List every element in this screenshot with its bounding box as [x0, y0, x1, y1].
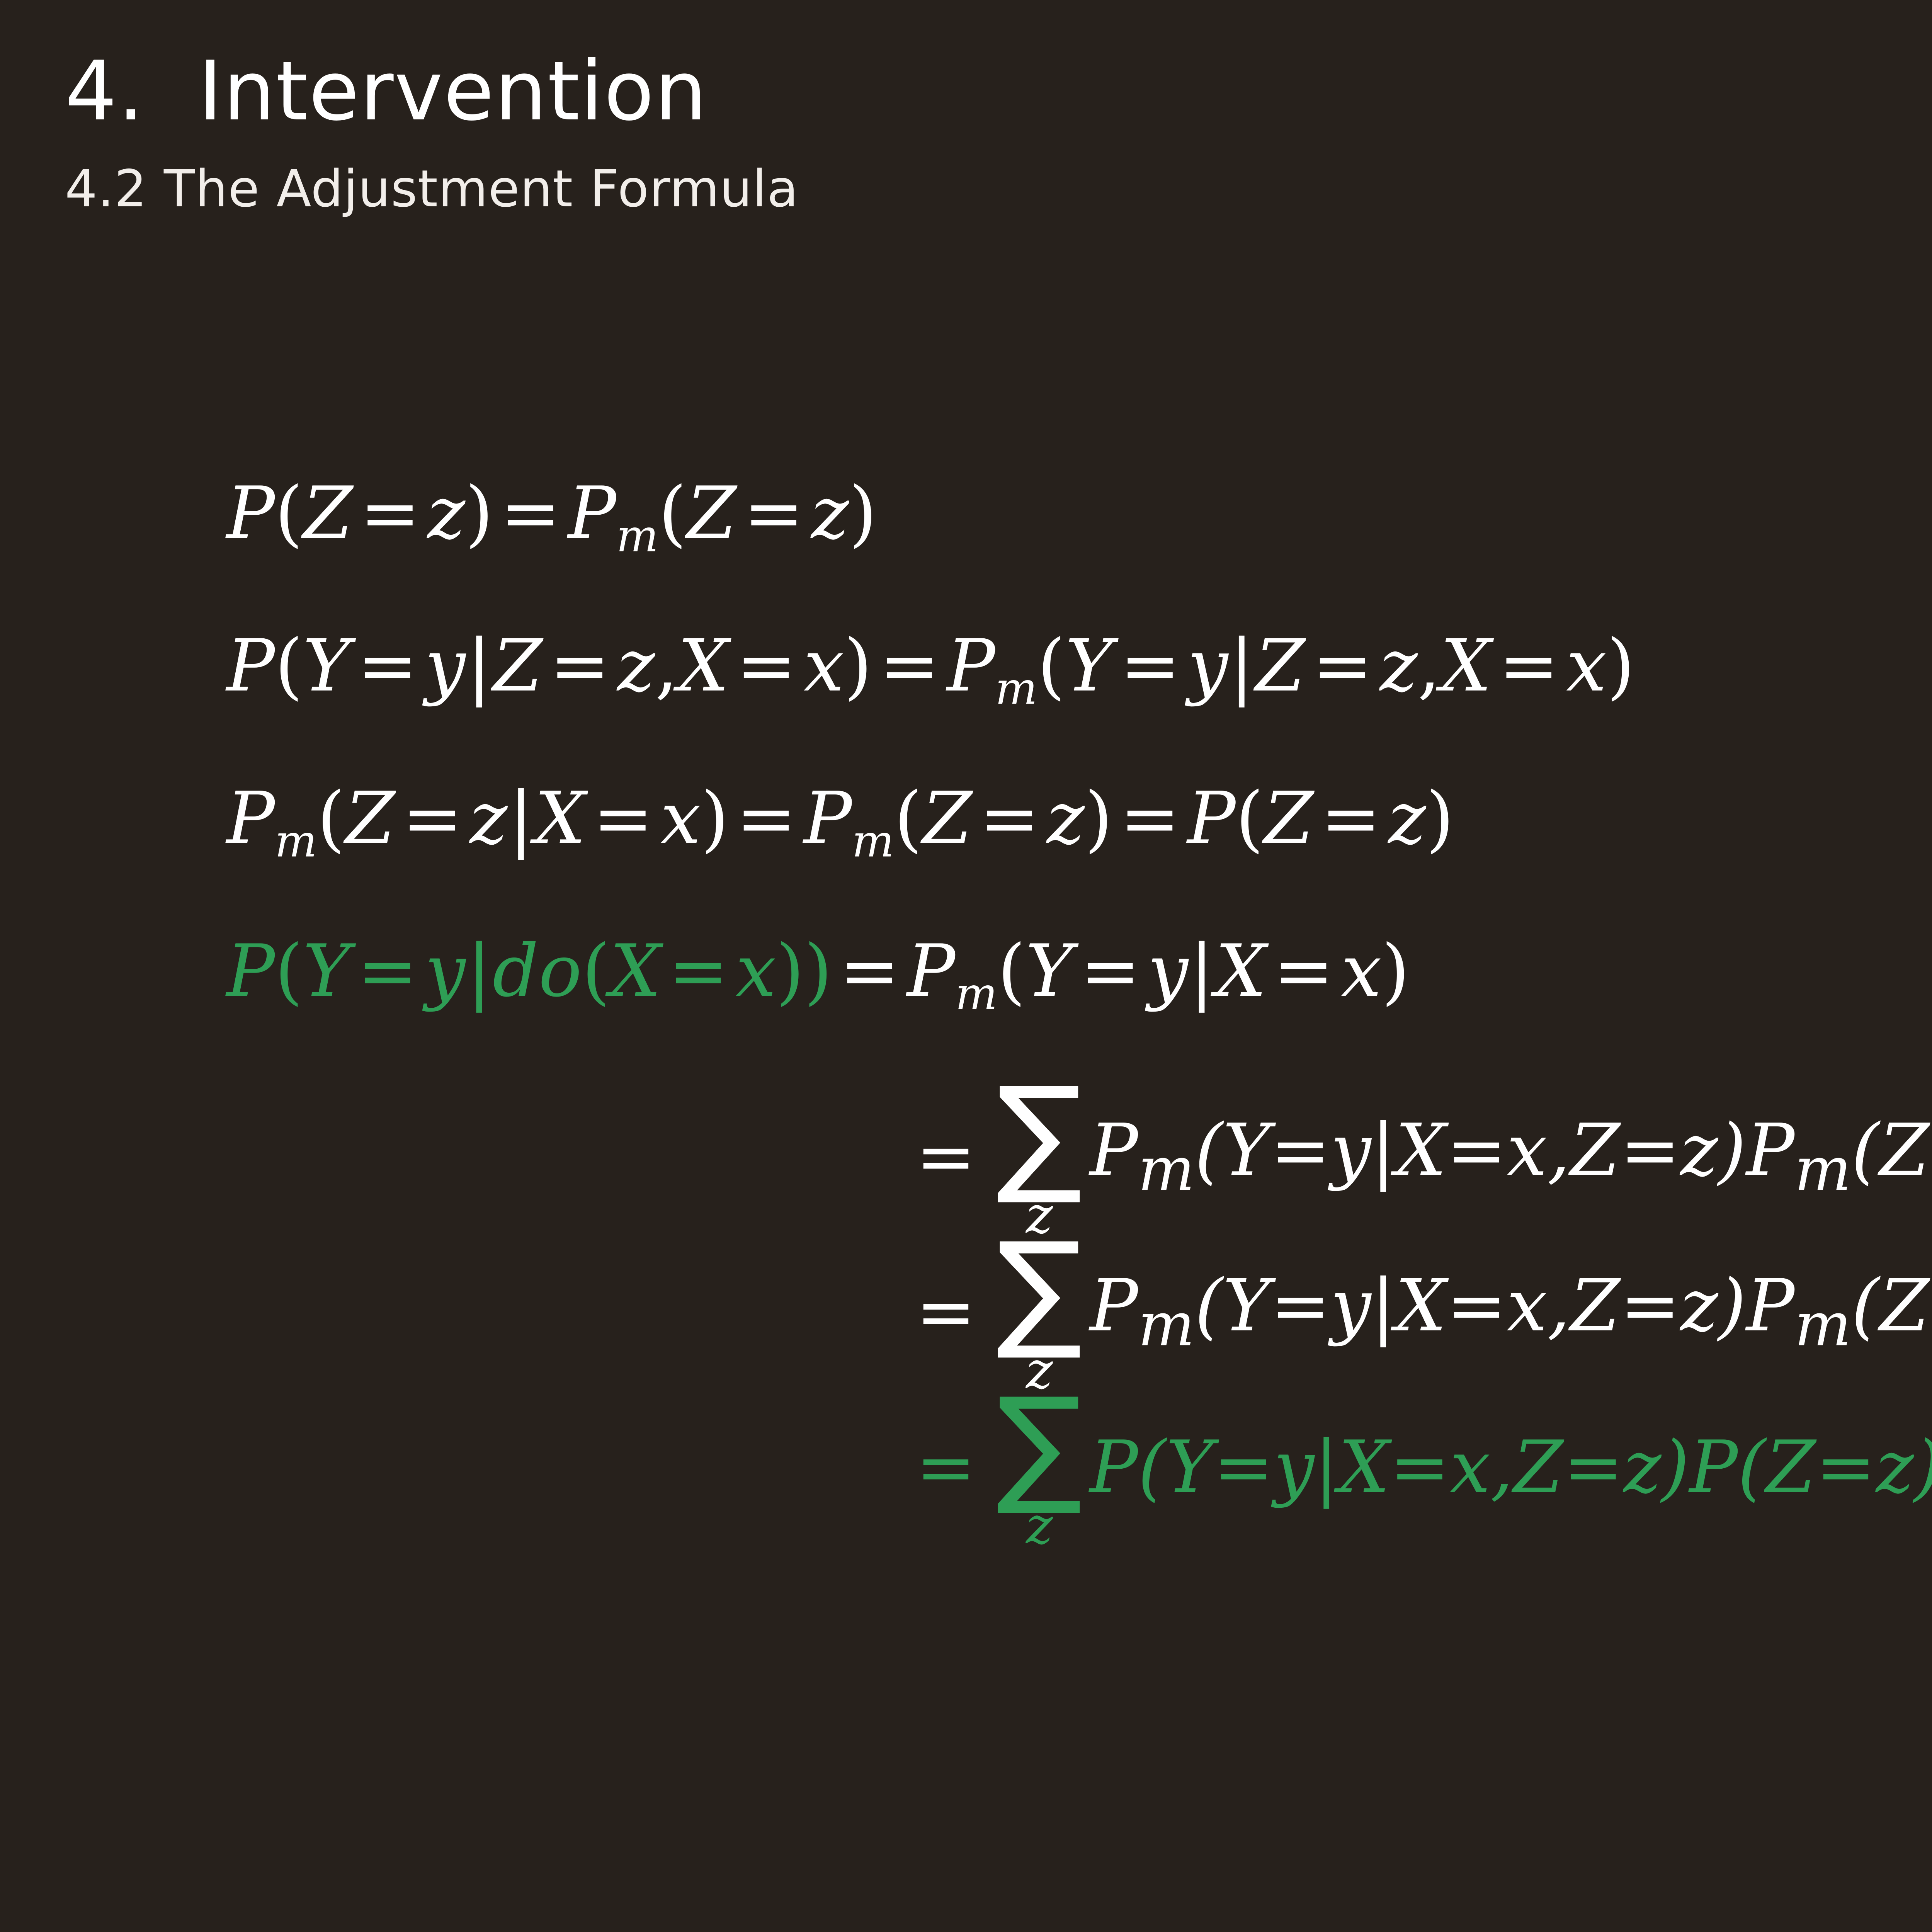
math-token: (: [998, 929, 1026, 1013]
math-token: (: [1738, 1425, 1766, 1509]
summation-symbol: ∑z: [989, 1076, 1090, 1236]
beamer-slide: 4. Intervention 4.2 The Adjustment Formu…: [0, 0, 1932, 1932]
math-token: Y: [1223, 1264, 1270, 1347]
math-token: z: [1876, 1425, 1914, 1509]
math-token: Z: [687, 471, 736, 555]
math-token: (: [1851, 1108, 1879, 1192]
math-token: (: [1037, 624, 1066, 707]
math-token: Z: [922, 776, 972, 860]
page-title: 4. Intervention: [65, 50, 1932, 132]
math-token: P: [1090, 1264, 1138, 1347]
math-token: X: [610, 929, 661, 1013]
math-token: ): [844, 624, 872, 707]
math-token: z: [811, 471, 849, 555]
math-token: m: [1138, 1289, 1195, 1359]
summation-body: P(Y=y|X=x,Z=z)P(Z=z): [1090, 1425, 1932, 1509]
sigma-glyph: ∑: [989, 1386, 1090, 1502]
math-token: P: [1090, 1425, 1138, 1509]
math-token: P: [804, 776, 852, 860]
math-token: (: [275, 929, 303, 1013]
math-token: P: [226, 929, 275, 1013]
math-token: |: [1228, 624, 1255, 707]
math-token: Z: [1879, 1264, 1929, 1347]
math-token: (: [1236, 776, 1264, 860]
equals-sign: =: [916, 1270, 989, 1354]
math-token: ): [1607, 624, 1635, 707]
math-token: z: [469, 776, 507, 860]
math-token: ): [804, 929, 832, 1013]
equation-line: Pm(Z=z|X=x)=Pm(Z=z)=P(Z=z): [0, 781, 1932, 856]
math-token: do: [493, 929, 582, 1013]
math-token: y: [1330, 1264, 1371, 1347]
math-token: y: [1330, 1108, 1371, 1192]
math-token: P: [907, 929, 955, 1013]
math-token: x: [1341, 929, 1382, 1013]
math-token: ): [1382, 929, 1410, 1013]
math-token: |: [1314, 1425, 1338, 1509]
sigma-glyph: ∑: [989, 1076, 1090, 1192]
math-token: ): [701, 776, 729, 860]
math-token: =: [1270, 1108, 1330, 1192]
math-token: =: [1112, 776, 1187, 860]
math-token: ): [776, 929, 804, 1013]
math-token: Z: [1570, 1264, 1620, 1347]
math-token: ): [1914, 1425, 1932, 1509]
math-token: =: [1929, 1264, 1932, 1347]
math-token: =: [1270, 1264, 1330, 1347]
math-token: y: [1274, 1425, 1314, 1509]
math-token: ): [1085, 776, 1113, 860]
math-token: (: [582, 929, 610, 1013]
math-token: m: [955, 968, 997, 1020]
math-token: Y: [1065, 624, 1113, 707]
math-token: X: [1395, 1264, 1446, 1347]
math-token: =: [1446, 1264, 1507, 1347]
math-token: |: [507, 776, 534, 860]
summation-body: Pm(Y=y|X=x,Z=z)Pm(Z=z|X=x): [1090, 1108, 1932, 1204]
math-token: P: [1090, 1108, 1138, 1192]
math-token: X: [1395, 1108, 1446, 1192]
math-token: =: [1620, 1108, 1680, 1192]
math-token: z: [427, 471, 465, 555]
math-token: Y: [1166, 1425, 1214, 1509]
math-token: |: [1371, 1108, 1395, 1192]
math-token: =: [350, 929, 425, 1013]
math-token: y: [1148, 929, 1188, 1013]
math-token: ): [1718, 1108, 1746, 1192]
math-token: =: [729, 624, 804, 707]
math-token: =: [872, 624, 947, 707]
math-token: =: [1389, 1425, 1450, 1509]
math-token: |: [1371, 1264, 1395, 1347]
summation-line: =∑zPm(Y=y|X=x,Z=z)Pm(Z=z): [0, 1241, 1932, 1372]
math-token: Y: [303, 624, 350, 707]
math-token: X: [1338, 1425, 1389, 1509]
math-token: |: [466, 929, 493, 1013]
math-token: x: [804, 624, 844, 707]
math-token: Z: [1570, 1108, 1620, 1192]
math-token: ,: [1547, 1264, 1570, 1347]
math-token: P: [947, 624, 995, 707]
math-token: (: [1195, 1264, 1223, 1347]
math-token: m: [1138, 1134, 1195, 1204]
math-token: P: [1746, 1108, 1794, 1192]
equals-sign: =: [916, 1425, 989, 1509]
math-token: X: [1440, 624, 1492, 707]
math-token: =: [353, 471, 427, 555]
math-token: ): [1661, 1425, 1689, 1509]
math-token: ): [1718, 1264, 1746, 1347]
math-token: z: [1680, 1108, 1718, 1192]
math-token: x: [1507, 1108, 1547, 1192]
math-token: P: [1746, 1264, 1794, 1347]
math-token: z: [1380, 624, 1418, 707]
math-token: (: [1195, 1108, 1223, 1192]
math-token: z: [617, 624, 655, 707]
equation-line: P(Y=y|do(X=x))=Pm(Y=y|X=x): [0, 933, 1932, 1009]
math-token: y: [1187, 624, 1228, 707]
math-token: (: [317, 776, 345, 860]
math-token: P: [1689, 1425, 1738, 1509]
math-token: X: [678, 624, 729, 707]
math-token: P: [226, 624, 275, 707]
math-token: Z: [1513, 1425, 1563, 1509]
math-token: =: [736, 471, 811, 555]
equation-line: P(Z=z)=Pm(Z=z): [0, 475, 1932, 551]
math-token: Z: [1879, 1108, 1929, 1192]
math-token: P: [226, 471, 275, 555]
math-token: =: [493, 471, 568, 555]
math-token: =: [1113, 624, 1187, 707]
math-token: =: [586, 776, 660, 860]
math-token: Y: [1026, 929, 1073, 1013]
math-token: =: [1267, 929, 1341, 1013]
math-token: =: [1563, 1425, 1624, 1509]
math-token: |: [466, 624, 493, 707]
math-token: z: [1680, 1264, 1718, 1347]
math-token: ): [1426, 776, 1454, 860]
page-subtitle: 4.2 The Adjustment Formula: [65, 159, 1932, 219]
math-token: z: [1388, 776, 1426, 860]
summation-line: =∑zP(Y=y|X=x,Z=z)P(Z=z): [0, 1396, 1932, 1528]
math-token: Z: [303, 471, 353, 555]
math-token: m: [275, 816, 317, 867]
math-token: Z: [493, 624, 543, 707]
math-token: =: [661, 929, 736, 1013]
summation-line: =∑zPm(Y=y|X=x,Z=z)Pm(Z=z|X=x): [0, 1086, 1932, 1217]
math-token: m: [616, 510, 658, 562]
math-token: P: [568, 471, 616, 555]
math-token: =: [1213, 1425, 1274, 1509]
math-token: ,: [1418, 624, 1440, 707]
math-token: m: [852, 816, 894, 867]
math-token: (: [275, 471, 303, 555]
math-token: =: [1620, 1264, 1680, 1347]
math-token: Z: [345, 776, 395, 860]
math-token: ,: [655, 624, 678, 707]
math-token: x: [736, 929, 776, 1013]
math-token: P: [1187, 776, 1236, 860]
math-token: ,: [1547, 1108, 1570, 1192]
math-token: =: [1446, 1108, 1507, 1192]
math-token: (: [658, 471, 687, 555]
summation-symbol: ∑z: [989, 1231, 1090, 1392]
math-token: Y: [303, 929, 350, 1013]
math-token: =: [543, 624, 617, 707]
slide-header: 4. Intervention 4.2 The Adjustment Formu…: [65, 50, 1932, 219]
math-token: =: [832, 929, 907, 1013]
math-token: x: [660, 776, 701, 860]
math-token: Z: [1766, 1425, 1816, 1509]
math-token: (: [275, 624, 303, 707]
equation-line: P(Y=y|Z=z,X=x)=Pm(Y=y|Z=z,X=x): [0, 628, 1932, 704]
math-token: x: [1507, 1264, 1547, 1347]
math-token: ,: [1490, 1425, 1513, 1509]
math-token: x: [1566, 624, 1607, 707]
equals-sign: =: [916, 1114, 989, 1198]
math-token: P: [226, 776, 275, 860]
math-token: x: [1450, 1425, 1490, 1509]
math-token: m: [1794, 1134, 1851, 1204]
math-token: =: [729, 776, 803, 860]
math-token: =: [395, 776, 469, 860]
summation-body: Pm(Y=y|X=x,Z=z)Pm(Z=z): [1090, 1264, 1932, 1359]
math-token: =: [1073, 929, 1148, 1013]
math-token: Z: [1264, 776, 1313, 860]
math-token: =: [1816, 1425, 1876, 1509]
math-token: z: [1047, 776, 1085, 860]
sigma-glyph: ∑: [989, 1231, 1090, 1347]
math-token: =: [1929, 1108, 1932, 1192]
math-token: Z: [1255, 624, 1305, 707]
math-token: =: [1314, 776, 1388, 860]
math-token: =: [350, 624, 425, 707]
math-token: z: [1623, 1425, 1661, 1509]
math-token: (: [1851, 1264, 1879, 1347]
math-token: X: [535, 776, 586, 860]
math-token: |: [1188, 929, 1215, 1013]
math-token: ): [849, 471, 877, 555]
math-token: y: [425, 929, 466, 1013]
math-token: y: [425, 624, 466, 707]
equation-block: P(Z=z)=Pm(Z=z)P(Y=y|Z=z,X=x)=Pm(Y=y|Z=z,…: [0, 475, 1932, 1552]
math-token: m: [1794, 1289, 1851, 1359]
math-token: =: [972, 776, 1047, 860]
math-token: X: [1215, 929, 1266, 1013]
math-token: ): [465, 471, 493, 555]
math-token: Y: [1223, 1108, 1270, 1192]
math-token: =: [1492, 624, 1566, 707]
math-token: (: [894, 776, 922, 860]
summation-symbol: ∑z: [989, 1386, 1090, 1547]
math-token: (: [1138, 1425, 1166, 1509]
math-token: m: [995, 663, 1037, 715]
math-token: =: [1305, 624, 1380, 707]
